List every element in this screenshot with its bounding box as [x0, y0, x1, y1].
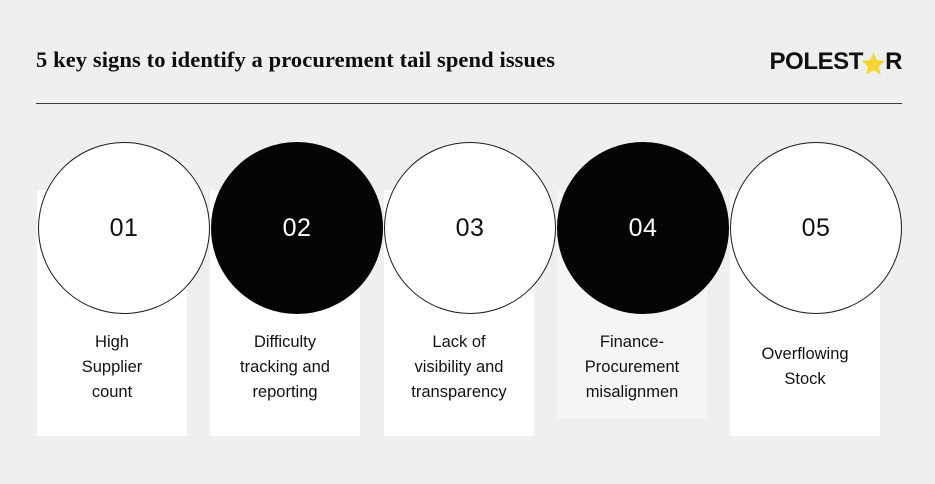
step-label-5: Overflowing Stock	[720, 342, 890, 392]
step-label-1: High Supplier count	[27, 330, 197, 405]
step-circle-3: 03	[384, 142, 556, 314]
step-number-5: 05	[802, 216, 831, 241]
step-circle-1: 01	[38, 142, 210, 314]
steps-row: High Supplier count 01 Difficulty tracki…	[0, 0, 935, 484]
step-number-4: 04	[629, 216, 658, 241]
step-circle-2: 02	[211, 142, 383, 314]
infographic-page: 5 key signs to identify a procurement ta…	[0, 0, 935, 484]
step-label-4: Finance- Procurement misalignmen	[547, 330, 717, 405]
step-circle-5: 05	[730, 142, 902, 314]
step-number-1: 01	[110, 216, 139, 241]
step-label-2: Difficulty tracking and reporting	[200, 330, 370, 405]
step-number-2: 02	[283, 216, 312, 241]
step-number-3: 03	[456, 216, 485, 241]
step-label-3: Lack of visibility and transparency	[374, 330, 544, 405]
step-circle-4: 04	[557, 142, 729, 314]
